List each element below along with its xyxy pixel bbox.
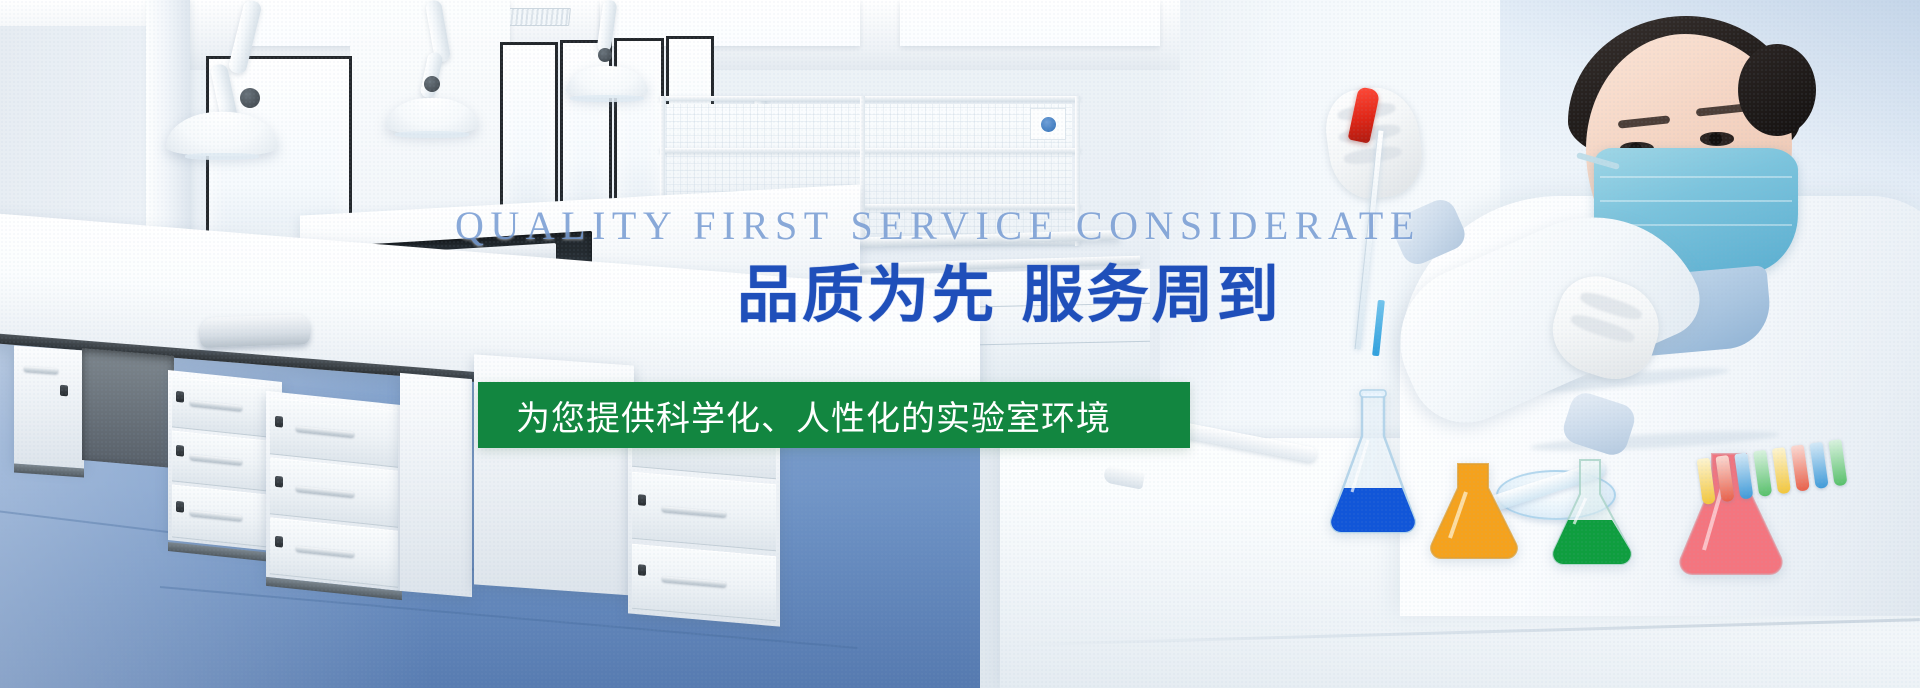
subtitle-green-bar: 为您提供科学化、人性化的实验室环境 (478, 382, 1190, 448)
photo-grain-texture (0, 0, 1920, 688)
english-tagline: QUALITY FIRST SERVICE CONSIDERATE (455, 202, 1421, 249)
chinese-headline: 品质为先 服务周到 (737, 244, 1282, 334)
subtitle-text: 为您提供科学化、人性化的实验室环境 (478, 391, 1111, 440)
laboratory-photo (0, 0, 1920, 688)
lab-promo-banner: QUALITY FIRST SERVICE CONSIDERATE 品质为先 服… (0, 0, 1920, 688)
